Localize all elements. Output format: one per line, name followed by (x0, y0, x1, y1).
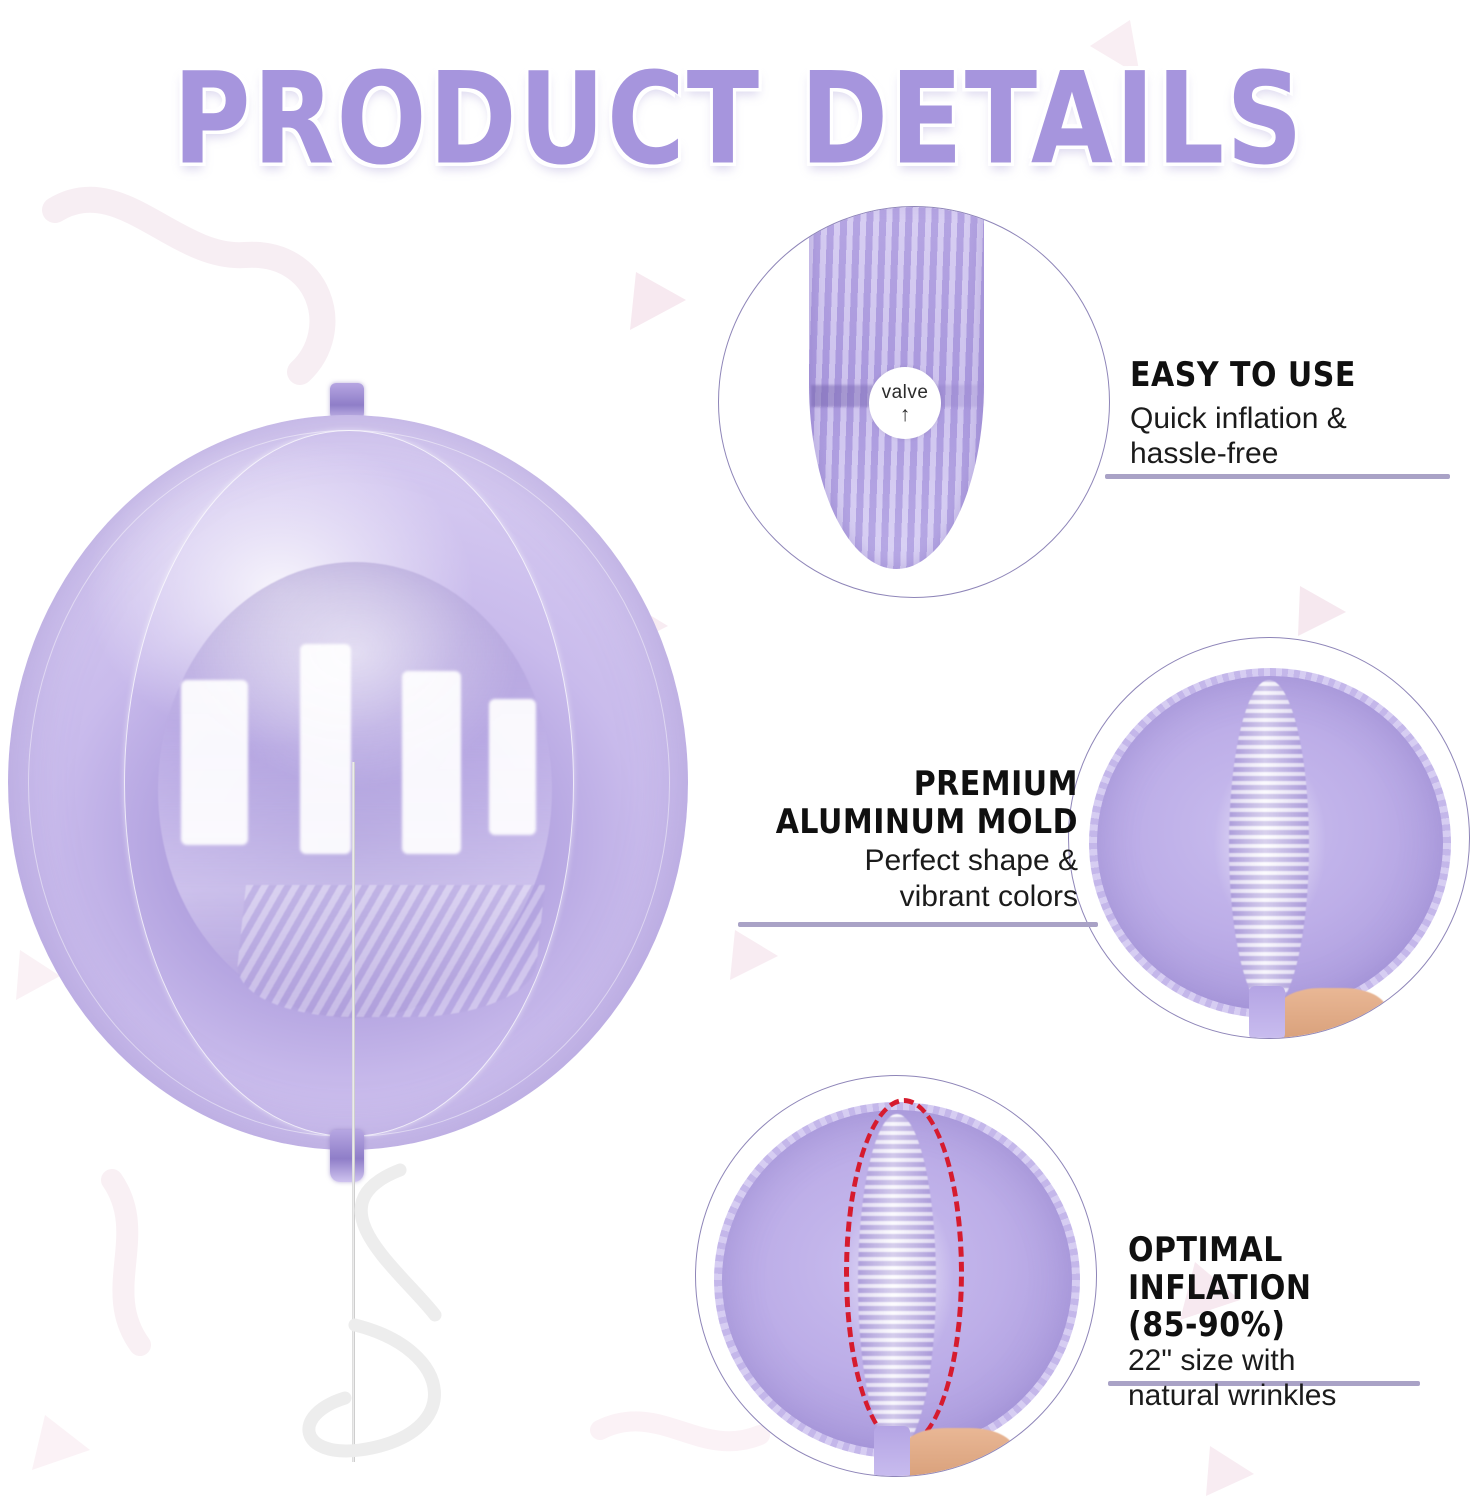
triangle-confetti-icon (1206, 1446, 1254, 1496)
feature-title: OPTIMAL INFLATION (85-90%) (1128, 1232, 1473, 1345)
feature-subtitle: Perfect shape & vibrant colors (718, 843, 1078, 914)
hand-holding-balloon (902, 1428, 1014, 1477)
dashed-ellipse-icon (844, 1098, 964, 1448)
foil-center-seam (1229, 680, 1309, 1010)
feature-title: EASY TO USE (1130, 357, 1460, 395)
detail-circle-valve: valve ↑ (718, 206, 1110, 598)
streamer-ribbon-icon (55, 200, 322, 372)
balloon-outer-ring (28, 430, 669, 1138)
up-arrow-icon: ↑ (900, 406, 911, 425)
streamer-ribbon-icon (112, 1180, 140, 1345)
divider-easy-to-use (1105, 474, 1450, 479)
balloon-tab (874, 1426, 910, 1477)
feature-subtitle: Quick inflation & hassle-free (1130, 401, 1460, 472)
feature-subtitle: 22" size with natural wrinkles (1128, 1343, 1473, 1414)
feature-easy-to-use: EASY TO USE Quick inflation & hassle-fre… (1130, 357, 1460, 471)
divider-aluminum-mold (738, 922, 1098, 927)
triangle-confetti-icon (630, 272, 686, 330)
detail-circle-optimal-inflation (695, 1075, 1097, 1477)
feature-aluminum-mold: PREMIUM ALUMINUM MOLD Perfect shape & vi… (718, 766, 1078, 914)
page-title: PRODUCT DETAILS (173, 44, 1305, 193)
page-title-wrapper: PRODUCT DETAILS (0, 44, 1478, 166)
balloon-tab (1249, 986, 1285, 1039)
curling-ribbon (250, 1150, 550, 1500)
valve-label: valve (882, 382, 929, 404)
product-details-infographic: PRODUCT DETAILS valve ↑ E (0, 0, 1478, 1500)
detail-circle-aluminum-mold (1068, 637, 1470, 1039)
balloon-orb (8, 415, 688, 1150)
triangle-confetti-icon (32, 1415, 90, 1470)
streamer-ribbon-icon (600, 1421, 760, 1441)
hand-holding-balloon (1277, 988, 1387, 1039)
feature-title: PREMIUM ALUMINUM MOLD (718, 766, 1078, 841)
valve-callout-badge: valve ↑ (869, 367, 941, 439)
hero-balloon (8, 415, 688, 1155)
triangle-confetti-icon (730, 930, 778, 980)
triangle-confetti-icon (1298, 586, 1346, 636)
feature-optimal-inflation: OPTIMAL INFLATION (85-90%) 22" size with… (1128, 1232, 1473, 1414)
